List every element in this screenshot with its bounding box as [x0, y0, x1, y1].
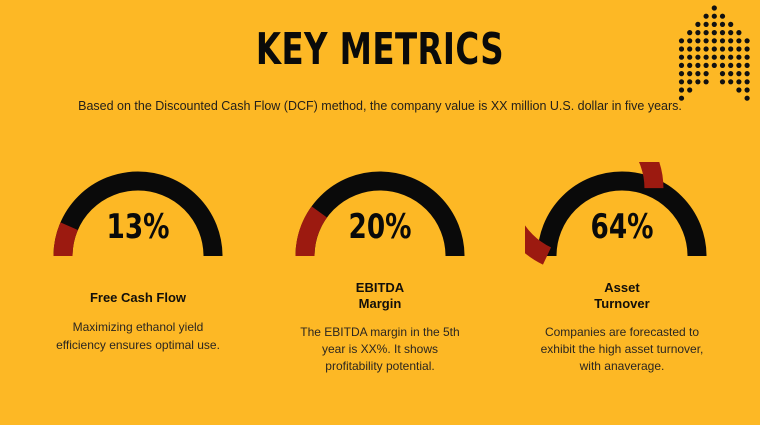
gauge-value-asset-turnover: 64% [539, 210, 706, 244]
metric-card-asset-turnover: 64% Asset Turnover Companies are forecas… [506, 162, 738, 376]
metric-label-ebitda-margin: EBITDA Margin [356, 280, 404, 313]
metric-label-line-1: EBITDA [356, 280, 404, 295]
page-title: KEY METRICS [68, 28, 691, 72]
gauge-free-cash-flow: 13% [41, 162, 235, 266]
gauge-value-ebitda-margin: 20% [297, 210, 464, 244]
metric-label-line-2: Margin [359, 296, 402, 311]
metric-card-free-cash-flow: 13% Free Cash Flow Maximizing ethanol yi… [22, 162, 254, 376]
metric-label-free-cash-flow: Free Cash Flow [90, 290, 186, 306]
gauge-value-free-cash-flow: 13% [55, 210, 222, 244]
slide-root: KEY METRICS Based on the Discounted Cash… [0, 0, 760, 425]
metric-label-line-1: Asset [604, 280, 639, 295]
metric-label-asset-turnover: Asset Turnover [594, 280, 649, 313]
gauge-ebitda-margin: 20% [283, 162, 477, 266]
metric-card-ebitda-margin: 20% EBITDA Margin The EBITDA margin in t… [264, 162, 496, 376]
metric-description-free-cash-flow: Maximizing ethanol yield efficiency ensu… [54, 319, 222, 354]
metrics-row: 13% Free Cash Flow Maximizing ethanol yi… [0, 162, 760, 376]
metric-description-ebitda-margin: The EBITDA margin in the 5th year is XX%… [296, 324, 464, 376]
gauge-asset-turnover: 64% [525, 162, 719, 266]
page-subtitle: Based on the Discounted Cash Flow (DCF) … [0, 98, 760, 114]
metric-label-line-2: Turnover [594, 296, 649, 311]
metric-description-asset-turnover: Companies are forecasted to exhibit the … [538, 324, 706, 376]
